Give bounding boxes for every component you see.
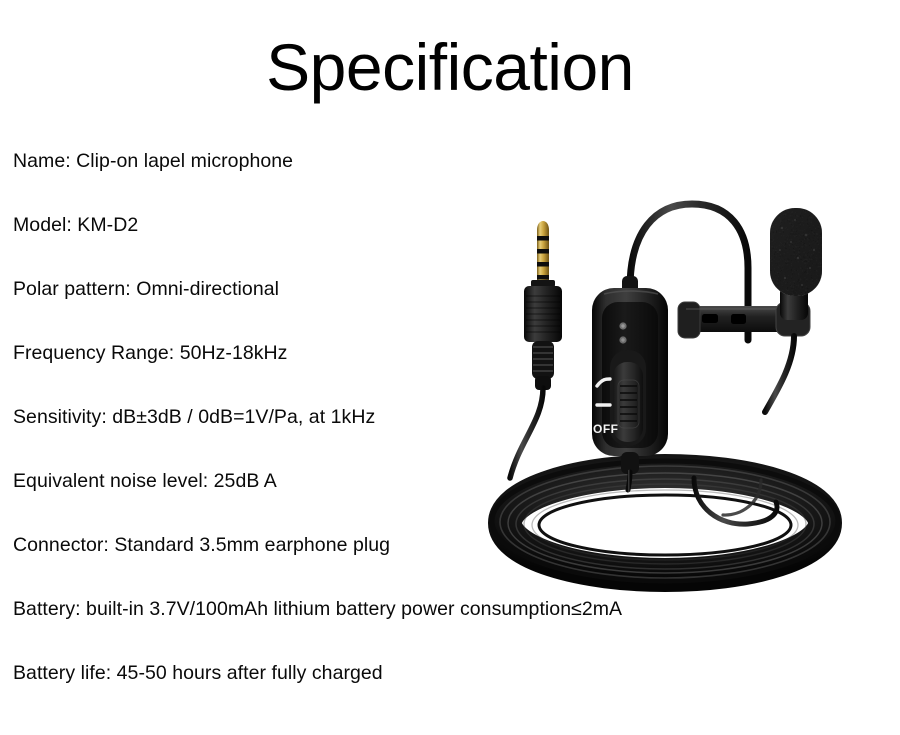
strain-relief — [532, 341, 554, 390]
product-image: OFF — [480, 190, 900, 610]
spec-line-battery-life: Battery life: 45-50 hours after fully ch… — [13, 664, 713, 728]
audio-plug-3.5mm — [510, 221, 562, 478]
specification-page: Specification Name: Clip-on lapel microp… — [0, 0, 900, 735]
switch-off-label: OFF — [593, 422, 619, 436]
page-title: Specification — [0, 34, 900, 100]
